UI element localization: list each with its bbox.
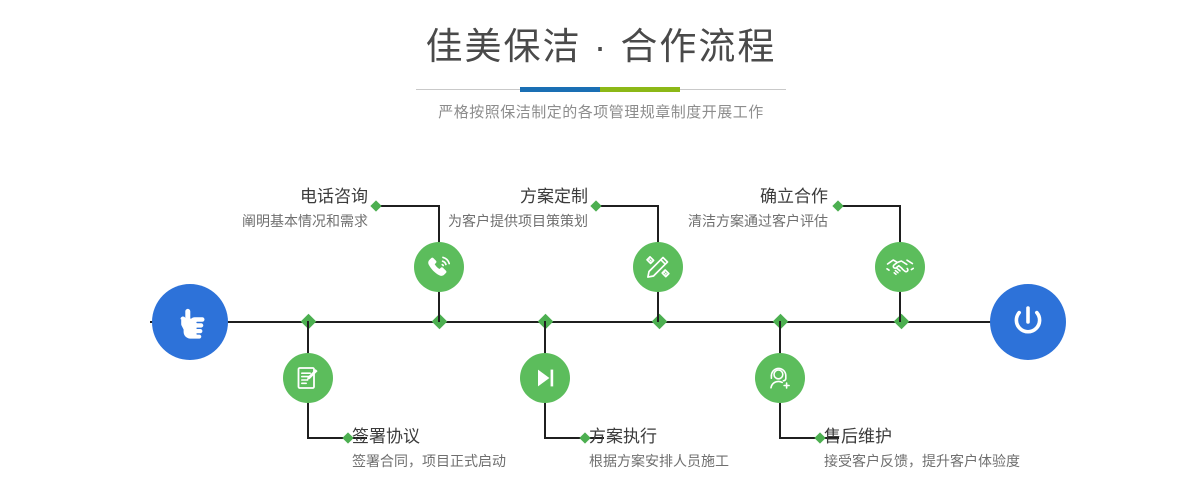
- power-button-icon: [1006, 300, 1050, 344]
- step-5-arm: [838, 205, 901, 207]
- step-4-node[interactable]: [520, 353, 570, 403]
- step-2-node[interactable]: [283, 353, 333, 403]
- title-divider: [416, 87, 786, 92]
- step-5-label: 确立合作 清洁方案通过客户评估: [580, 186, 828, 232]
- step-1-desc: 阐明基本情况和需求: [118, 210, 368, 232]
- step-3-label: 方案定制 为客户提供项目策策划: [340, 186, 588, 232]
- timeline-start-endcap: [152, 284, 228, 360]
- document-sign-icon: [294, 364, 322, 392]
- timeline-axis: [150, 321, 1052, 323]
- axis-marker-4: [652, 314, 668, 330]
- phone-call-icon: [424, 252, 454, 282]
- step-6-title: 售后维护: [824, 426, 1154, 448]
- pointing-hand-icon: [170, 302, 210, 342]
- page-subtitle: 严格按照保洁制定的各项管理规章制度开展工作: [0, 103, 1202, 123]
- step-3-title: 方案定制: [340, 186, 588, 208]
- customer-support-add-icon: [766, 364, 794, 392]
- step-5-title: 确立合作: [580, 186, 828, 208]
- step-3-node[interactable]: [633, 242, 683, 292]
- step-5-desc: 清洁方案通过客户评估: [580, 210, 828, 232]
- pencil-ruler-icon: [643, 252, 673, 282]
- cooperation-process-infographic: 佳美保洁 · 合作流程 严格按照保洁制定的各项管理规章制度开展工作: [0, 0, 1202, 502]
- play-skip-icon: [531, 364, 559, 392]
- step-6-desc: 接受客户反馈，提升客户体验度: [824, 450, 1154, 472]
- header: 佳美保洁 · 合作流程 严格按照保洁制定的各项管理规章制度开展工作: [0, 24, 1202, 123]
- step-5-node[interactable]: [875, 242, 925, 292]
- step-6-node[interactable]: [755, 353, 805, 403]
- step-6-label: 售后维护 接受客户反馈，提升客户体验度: [824, 426, 1154, 472]
- divider-segment-green: [600, 87, 680, 92]
- step-1-label: 电话咨询 阐明基本情况和需求: [118, 186, 368, 232]
- axis-marker-6: [894, 314, 910, 330]
- page-title: 佳美保洁 · 合作流程: [0, 24, 1202, 70]
- divider-segment-blue: [520, 87, 600, 92]
- handshake-icon: [885, 252, 915, 282]
- timeline-end-endcap: [990, 284, 1066, 360]
- step-1-title: 电话咨询: [118, 186, 368, 208]
- step-5-arm-dot: [832, 200, 843, 211]
- step-1-node[interactable]: [414, 242, 464, 292]
- step-3-desc: 为客户提供项目策策划: [340, 210, 588, 232]
